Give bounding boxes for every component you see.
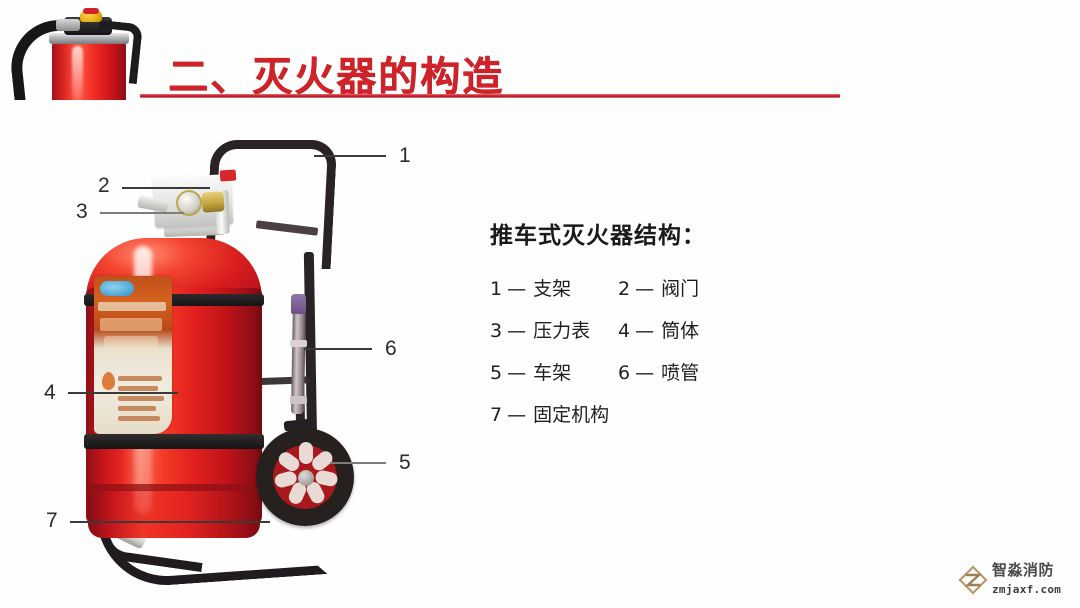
legend-row: 5 — 车架 6 — 喷管 xyxy=(490,358,820,385)
legend-item-number: 6 xyxy=(618,362,630,384)
tank-band-lower xyxy=(84,434,264,449)
callout-leader-line-4 xyxy=(68,392,178,394)
valve-brass-knob xyxy=(201,191,224,212)
legend-row: 7 — 固定机构 xyxy=(490,400,820,427)
label-text-band-2 xyxy=(100,318,162,331)
trolley-fire-extinguisher-photo xyxy=(60,128,460,588)
callout-number-2: 2 xyxy=(98,174,110,198)
wheel-spoke-hole xyxy=(299,442,313,464)
watermark-brand: 智淼消防 xyxy=(992,561,1054,579)
callout-leader-line-7 xyxy=(70,521,270,523)
title-underline-rule xyxy=(140,94,840,98)
legend-item-7: 7 — 固定机构 xyxy=(490,400,618,427)
legend-item-number: 5 xyxy=(490,362,502,384)
slide-canvas: 二、灭火器的构造 xyxy=(0,0,1080,608)
legend-item-label: 车架 xyxy=(533,358,571,385)
thumb-lever-handle xyxy=(93,20,143,84)
callout-number-4: 4 xyxy=(44,381,56,405)
legend-item-label: 支架 xyxy=(533,274,571,301)
callout-number-5: 5 xyxy=(399,451,411,475)
legend-item-dash: — xyxy=(635,278,654,300)
legend-item-3: 3 — 压力表 xyxy=(490,316,618,343)
nozzle-ring-lower xyxy=(290,396,307,404)
valve-red-marker xyxy=(220,169,237,181)
tank-base-rim xyxy=(86,484,262,491)
legend-item-4: 4 — 筒体 xyxy=(618,316,699,343)
legend-row: 3 — 压力表 4 — 筒体 xyxy=(490,316,820,343)
company-logo-icon xyxy=(958,565,988,595)
label-text-band-1 xyxy=(98,302,166,311)
nozzle-ring-upper xyxy=(290,340,307,347)
label-headline-block xyxy=(104,336,158,356)
legend-row-list: 1 — 支架 2 — 阀门 3 — 压力表 4 — xyxy=(490,274,820,427)
portable-fire-extinguisher-thumbnail xyxy=(0,0,160,100)
legend-item-label: 筒体 xyxy=(661,316,699,343)
label-instruction-line xyxy=(118,396,164,401)
label-flame-icon xyxy=(102,372,115,390)
legend-row: 1 — 支架 2 — 阀门 xyxy=(490,274,820,301)
legend-item-1: 1 — 支架 xyxy=(490,274,618,301)
legend-item-number: 3 xyxy=(490,320,502,342)
watermark-url: zmjaxf.com xyxy=(992,583,1061,596)
callout-leader-line-3 xyxy=(100,212,184,214)
extinguisher-product-label xyxy=(94,276,172,434)
legend-panel: 推车式灭火器结构： 1 — 支架 2 — 阀门 3 — 压力表 xyxy=(490,216,820,442)
legend-item-number: 4 xyxy=(618,320,630,342)
legend-item-dash: — xyxy=(507,278,526,300)
callout-number-1: 1 xyxy=(399,144,411,168)
watermark-text: 智淼消防 zmjaxf.com xyxy=(992,562,1061,598)
nozzle-grip xyxy=(291,294,306,314)
legend-item-number: 1 xyxy=(490,278,502,300)
tank-lower-section xyxy=(88,490,260,538)
label-instruction-line xyxy=(118,406,156,411)
thumb-cylinder-highlight xyxy=(72,46,83,100)
legend-item-number: 7 xyxy=(490,404,502,426)
legend-item-label: 喷管 xyxy=(661,358,699,385)
legend-heading: 推车式灭火器结构： xyxy=(490,216,820,250)
wheel-hub xyxy=(298,470,314,486)
legend-item-label: 压力表 xyxy=(533,316,590,343)
label-instruction-line xyxy=(118,386,158,391)
label-instruction-line xyxy=(118,376,162,381)
callout-number-3: 3 xyxy=(76,200,88,224)
callout-leader-line-2 xyxy=(122,187,210,189)
thumb-safety-seal xyxy=(83,8,99,14)
legend-item-dash: — xyxy=(635,362,654,384)
legend-item-2: 2 — 阀门 xyxy=(618,274,699,301)
legend-item-number: 2 xyxy=(618,278,630,300)
legend-item-dash: — xyxy=(635,320,654,342)
legend-item-label: 阀门 xyxy=(661,274,699,301)
thumb-hose-connector xyxy=(56,19,80,31)
legend-item-dash: — xyxy=(507,404,526,426)
legend-item-dash: — xyxy=(507,320,526,342)
slide-header: 二、灭火器的构造 xyxy=(0,0,1080,110)
callout-leader-line-1 xyxy=(314,155,386,157)
label-instruction-line xyxy=(118,416,160,421)
legend-item-dash: — xyxy=(507,362,526,384)
callout-leader-line-5 xyxy=(330,462,386,464)
callout-number-6: 6 xyxy=(385,337,397,361)
legend-item-5: 5 — 车架 xyxy=(490,358,618,385)
callout-number-7: 7 xyxy=(46,509,58,533)
label-certification-badge xyxy=(100,281,134,296)
legend-item-6: 6 — 喷管 xyxy=(618,358,699,385)
callout-leader-line-6 xyxy=(304,348,372,350)
watermark: 智淼消防 zmjaxf.com xyxy=(958,562,1074,602)
legend-item-label: 固定机构 xyxy=(533,400,609,427)
